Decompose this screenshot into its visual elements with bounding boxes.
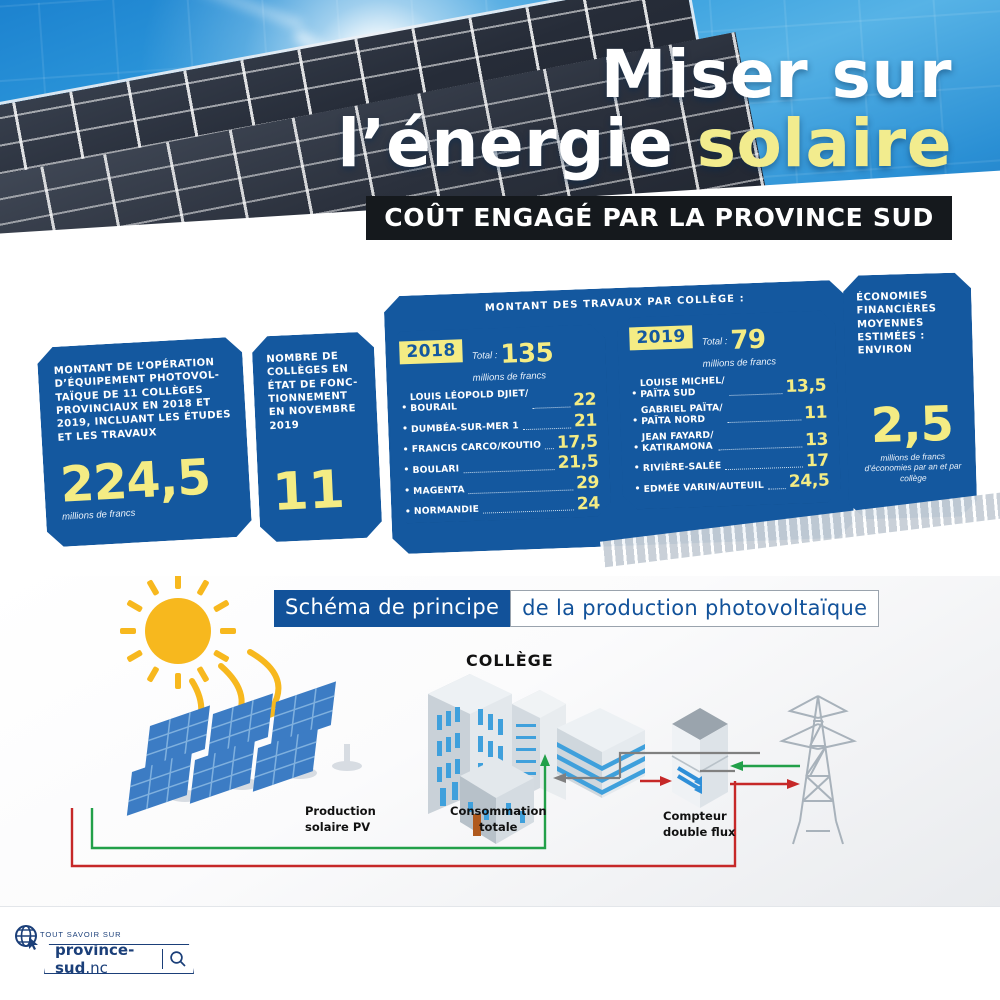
year-2018-total-value: 135 <box>500 338 554 370</box>
leader-dots <box>523 427 571 430</box>
college-name: NORMANDIE <box>414 505 480 518</box>
leader-dots <box>726 467 803 471</box>
unit-label: millions de francs <box>473 370 547 384</box>
leader-dots <box>463 469 555 473</box>
unit-label: millions de francs <box>703 356 777 370</box>
card-economies-value: 2,5 <box>859 399 964 450</box>
college-name: LOUISE MICHEL/ PAÏTA SUD <box>640 377 726 402</box>
arrow-left-icon <box>730 761 743 771</box>
power-pylon-icon <box>782 696 854 844</box>
list-item: •LOUIS LÉOPOLD DJIET/ BOURAIL22 <box>401 387 597 416</box>
bullet-icon: • <box>632 416 638 428</box>
college-value: 24,5 <box>789 474 830 491</box>
college-name: RIVIÈRE-SALÉE <box>643 462 722 476</box>
college-value: 13,5 <box>785 379 826 396</box>
college-name: DUMBÉA-SUR-MER 1 <box>411 421 519 436</box>
list-item: •JEAN FAYARD/ KATIRAMONA13 <box>633 426 829 455</box>
title-line-2: l’énergie solaire <box>337 113 952 176</box>
college-value: 13 <box>805 432 829 448</box>
year-2018-badge: 2018 <box>399 339 463 364</box>
college-value: 29 <box>576 476 600 492</box>
meter-icon <box>672 708 728 808</box>
college-name: LOUIS LÉOPOLD DJIET/ BOURAIL <box>410 389 529 415</box>
leader-dots <box>727 419 801 423</box>
footer-tagline: TOUT SAVOIR SUR <box>40 930 121 939</box>
college-name: GABRIEL PAÏTA/ PAÏTA NORD <box>641 403 724 428</box>
bullet-icon: • <box>631 390 637 402</box>
title-line-2-white: l’énergie <box>337 105 696 182</box>
bullet-icon: • <box>401 404 407 416</box>
year-2018-total: Total :135 millions de francs <box>471 336 554 384</box>
list-item: •EDMÉE VARIN/AUTEUIL24,5 <box>634 474 829 496</box>
sun-icon <box>120 576 236 689</box>
label-college: COLLÈGE <box>466 650 554 672</box>
label-compteur: Compteur double flux <box>663 809 735 840</box>
college-value: 11 <box>804 406 828 422</box>
card-economies: ÉCONOMIES FINANCIÈRES MOYENNES ESTIMÉES … <box>843 272 978 519</box>
bullet-icon: • <box>634 464 640 476</box>
bullet-icon: • <box>403 445 409 457</box>
year-2019-badge: 2019 <box>629 325 693 350</box>
bullet-icon: • <box>403 465 409 477</box>
college-value: 21 <box>574 414 598 430</box>
year-2019-rows: •LOUISE MICHEL/ PAÏTA SUD13,5 •GABRIEL P… <box>631 373 830 496</box>
card-nombre-header: NOMBRE DE COLLÈGES EN ÉTAT DE FONC-TIONN… <box>266 349 366 433</box>
card-nombre-value: 11 <box>271 463 369 519</box>
year-2018-header: 2018 Total :135 millions de francs <box>399 335 595 387</box>
card-montant-operation: MONTANT DE L’OPÉRATION D’ÉQUIPEMENT PHOT… <box>37 336 253 547</box>
year-card-2018: 2018 Total :135 millions de francs •LOUI… <box>387 324 612 523</box>
total-label: Total : <box>702 336 728 348</box>
globe-icon <box>14 924 40 950</box>
bullet-icon: • <box>635 484 641 496</box>
arrow-right-icon <box>660 776 672 786</box>
infographic-page: Miser sur l’énergie solaire COÛT ENGAGÉ … <box>0 0 1000 1000</box>
card-nombre-colleges: NOMBRE DE COLLÈGES EN ÉTAT DE FONC-TIONN… <box>251 331 382 542</box>
card-economies-header: ÉCONOMIES FINANCIÈRES MOYENNES ESTIMÉES … <box>856 289 962 358</box>
card-montant-value: 224,5 <box>59 451 236 510</box>
schema-section: Schéma de principe de la production phot… <box>0 576 1000 906</box>
leader-dots <box>483 510 574 514</box>
footer: TOUT SAVOIR SUR province-sud.nc <box>0 906 1000 1000</box>
list-item: •BOULARI21,5 <box>403 455 598 477</box>
hero-subtitle-bar: COÛT ENGAGÉ PAR LA PROVINCE SUD <box>366 196 952 240</box>
list-item: •LOUISE MICHEL/ PAÏTA SUD13,5 <box>631 373 827 402</box>
leader-dots <box>545 448 554 449</box>
college-name: BOULARI <box>412 465 459 477</box>
college-name: EDMÉE VARIN/AUTEUIL <box>643 481 764 496</box>
search-site-url: province-sud.nc <box>45 941 162 977</box>
year-2019-header: 2019 Total :79 millions de francs <box>629 321 825 373</box>
leader-dots <box>768 488 786 490</box>
college-value: 22 <box>573 393 597 409</box>
college-name: FRANCIS CARCO/KOUTIO <box>412 441 542 456</box>
total-label: Total : <box>472 350 498 362</box>
search-icon[interactable] <box>163 950 193 968</box>
search-box[interactable]: province-sud.nc <box>44 944 194 974</box>
college-name: MAGENTA <box>413 485 465 498</box>
title-line-1: Miser sur <box>337 44 952 107</box>
bullet-icon: • <box>404 486 410 498</box>
college-name: JEAN FAYARD/ KATIRAMONA <box>642 430 715 454</box>
list-item: •MAGENTA29 <box>404 476 599 498</box>
leader-dots <box>718 446 802 450</box>
college-value: 21,5 <box>557 455 598 472</box>
bullet-icon: • <box>405 507 411 519</box>
title-line-2-yellow: solaire <box>697 105 952 182</box>
card-economies-unit: millions de francs d’économies par an et… <box>861 450 966 486</box>
year-2019-total: Total :79 millions de francs <box>701 322 776 370</box>
leader-dots <box>533 407 570 409</box>
college-value: 17,5 <box>557 434 598 451</box>
year-2018-rows: •LOUIS LÉOPOLD DJIET/ BOURAIL22 •DUMBÉA-… <box>401 387 600 519</box>
card-montant-header: MONTANT DE L’OPÉRATION D’ÉQUIPEMENT PHOT… <box>54 355 233 445</box>
year-2019-total-value: 79 <box>730 325 766 356</box>
bullet-icon: • <box>633 443 639 455</box>
label-production: Production solaire PV <box>305 804 376 835</box>
label-consommation: Consommation totale <box>450 804 547 835</box>
hero-title: Miser sur l’énergie solaire <box>337 44 952 175</box>
schema-diagram <box>0 576 1000 906</box>
bullet-icon: • <box>402 424 408 436</box>
leader-dots <box>469 489 574 494</box>
footer-divider <box>0 906 1000 907</box>
arrow-right-icon <box>787 779 800 789</box>
college-value: 17 <box>806 453 830 469</box>
list-item: •NORMANDIE24 <box>405 496 600 518</box>
college-value: 24 <box>577 496 601 512</box>
stats-band: MONTANT DE L’OPÉRATION D’ÉQUIPEMENT PHOT… <box>0 236 1000 576</box>
search-site-suffix: .nc <box>85 959 108 977</box>
year-card-2019: 2019 Total :79 millions de francs •LOUIS… <box>617 310 842 509</box>
list-item: •GABRIEL PAÏTA/ PAÏTA NORD11 <box>632 400 828 429</box>
leader-dots <box>729 393 782 396</box>
